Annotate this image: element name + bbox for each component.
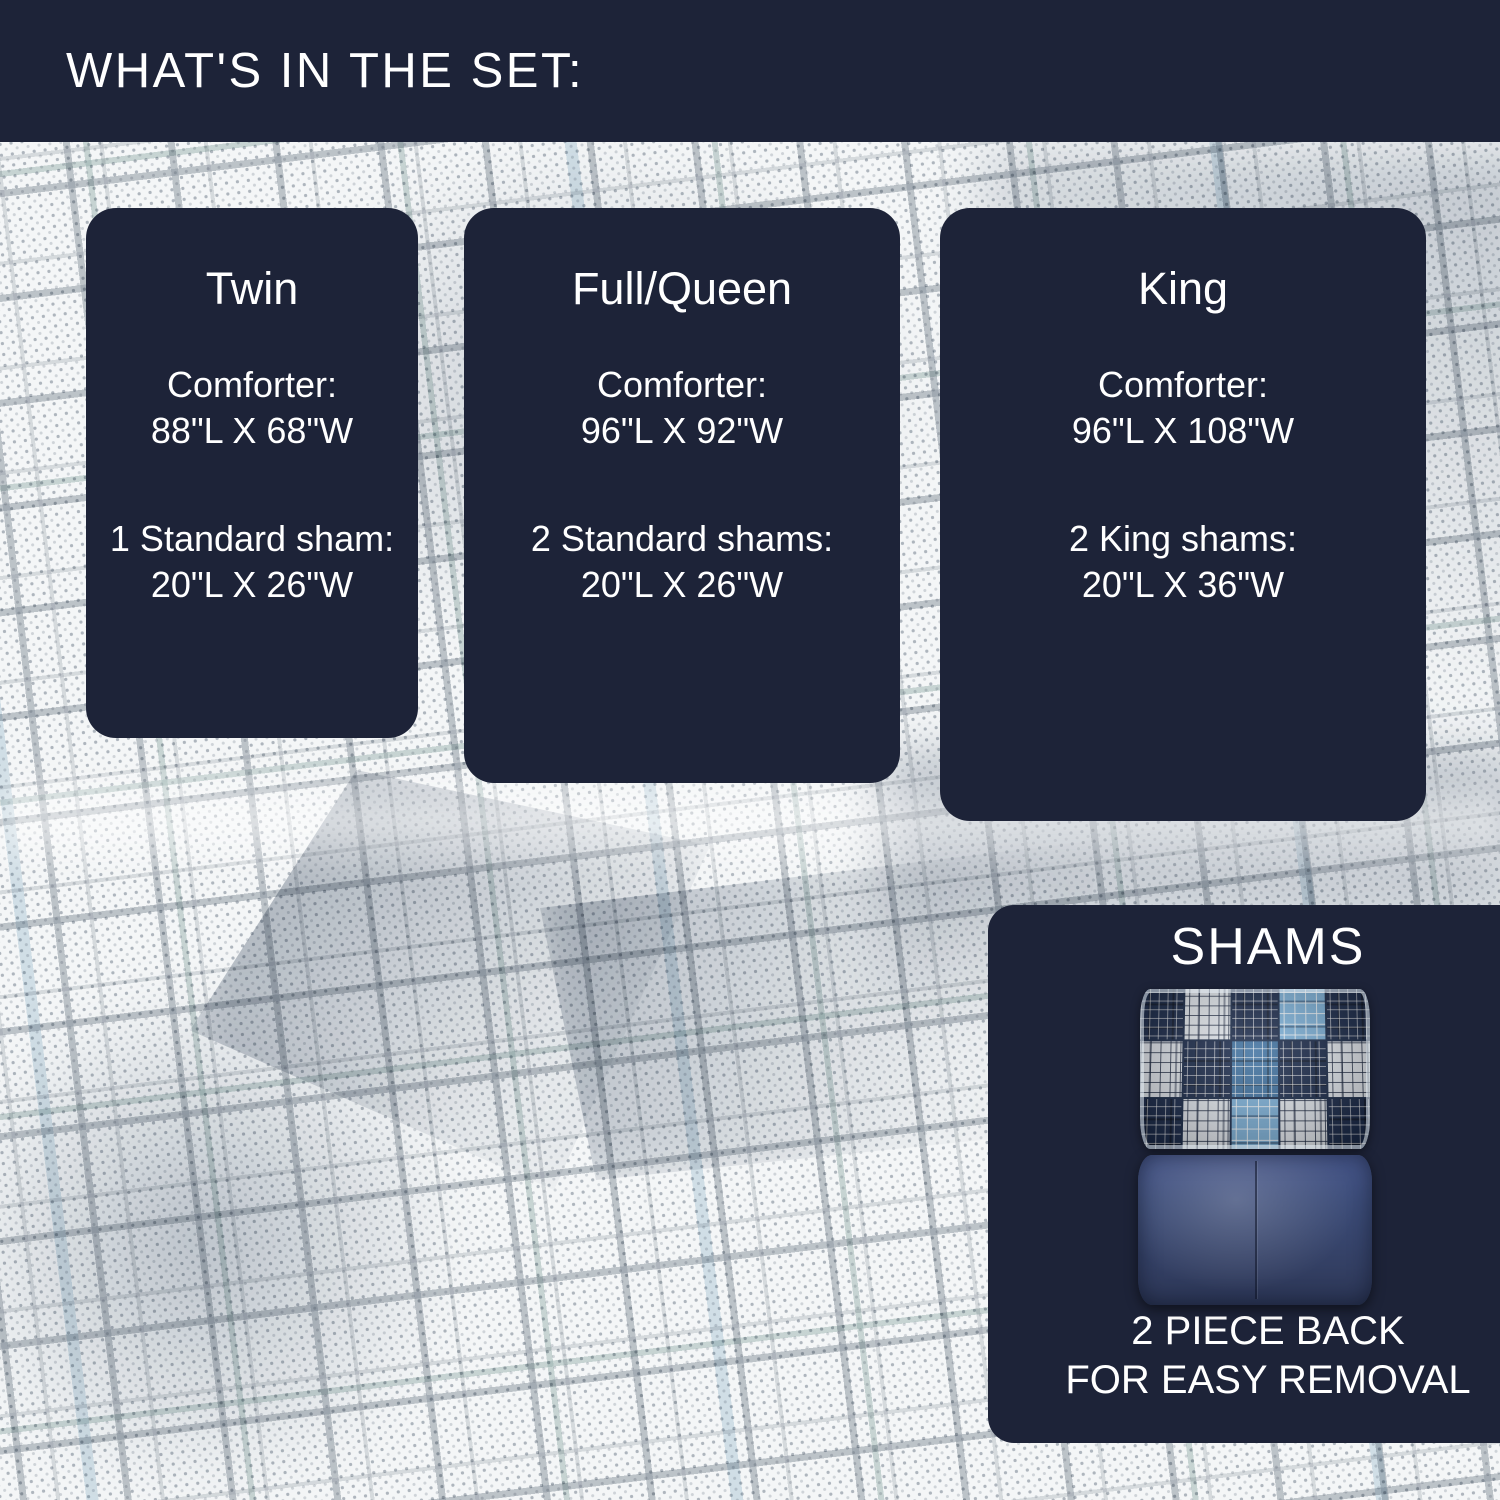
size-card-sham-spec: 2 Standard shams: 20"L X 26"W [464, 516, 900, 608]
patch-square [1327, 1041, 1370, 1097]
patch-square [1140, 989, 1184, 1039]
shams-title: SHAMS [988, 917, 1500, 977]
sham-label: 2 King shams: [940, 516, 1426, 562]
caption-line-1: 2 PIECE BACK [988, 1307, 1500, 1356]
product-infographic: WHAT'S IN THE SET: Twin Comforter: 88"L … [0, 0, 1500, 1500]
patch-square [1326, 989, 1370, 1039]
comforter-dimensions: 96"L X 108"W [940, 408, 1426, 454]
patch-square [1140, 1099, 1181, 1149]
comforter-label: Comforter: [86, 362, 418, 408]
patch-square [1231, 1099, 1278, 1149]
size-card-title: Twin [86, 264, 418, 314]
patch-square [1280, 1099, 1327, 1149]
pillow-edge-shadow [1138, 1155, 1372, 1305]
comforter-label: Comforter: [464, 362, 900, 408]
shams-caption: 2 PIECE BACK FOR EASY REMOVAL [988, 1307, 1500, 1405]
size-card-twin: Twin Comforter: 88"L X 68"W 1 Standard s… [86, 208, 418, 738]
size-card-full-queen: Full/Queen Comforter: 96"L X 92"W 2 Stan… [464, 208, 900, 783]
patch-square [1280, 1041, 1327, 1097]
patch-square [1182, 1099, 1229, 1149]
sham-pillow-stack [988, 983, 1500, 1303]
page-title: WHAT'S IN THE SET: [66, 43, 584, 99]
sham-label: 2 Standard shams: [464, 516, 900, 562]
sham-label: 1 Standard sham: [86, 516, 418, 562]
solid-navy-sham-back-image [1138, 1155, 1372, 1305]
header-band: WHAT'S IN THE SET: [0, 0, 1500, 142]
shams-panel: SHAMS [988, 905, 1500, 1443]
sham-dimensions: 20"L X 26"W [86, 562, 418, 608]
caption-line-2: FOR EASY REMOVAL [988, 1356, 1500, 1405]
patch-square [1185, 989, 1231, 1039]
size-card-title: Full/Queen [464, 264, 900, 314]
comforter-dimensions: 96"L X 92"W [464, 408, 900, 454]
sham-dimensions: 20"L X 36"W [940, 562, 1426, 608]
patch-square [1140, 1041, 1183, 1097]
size-card-sham-spec: 1 Standard sham: 20"L X 26"W [86, 516, 418, 608]
comforter-label: Comforter: [940, 362, 1426, 408]
patchwork-grid [1140, 989, 1370, 1149]
patch-square [1232, 989, 1278, 1039]
patch-square [1279, 989, 1325, 1039]
size-card-sham-spec: 2 King shams: 20"L X 36"W [940, 516, 1426, 608]
plaid-patchwork-sham-image [1140, 989, 1370, 1149]
size-card-title: King [940, 264, 1426, 314]
patch-square [1329, 1099, 1370, 1149]
size-card-comforter-spec: Comforter: 88"L X 68"W [86, 362, 418, 454]
patch-square [1232, 1041, 1278, 1097]
size-card-comforter-spec: Comforter: 96"L X 92"W [464, 362, 900, 454]
patch-square [1184, 1041, 1231, 1097]
size-card-king: King Comforter: 96"L X 108"W 2 King sham… [940, 208, 1426, 821]
sham-dimensions: 20"L X 26"W [464, 562, 900, 608]
size-card-comforter-spec: Comforter: 96"L X 108"W [940, 362, 1426, 454]
comforter-dimensions: 88"L X 68"W [86, 408, 418, 454]
